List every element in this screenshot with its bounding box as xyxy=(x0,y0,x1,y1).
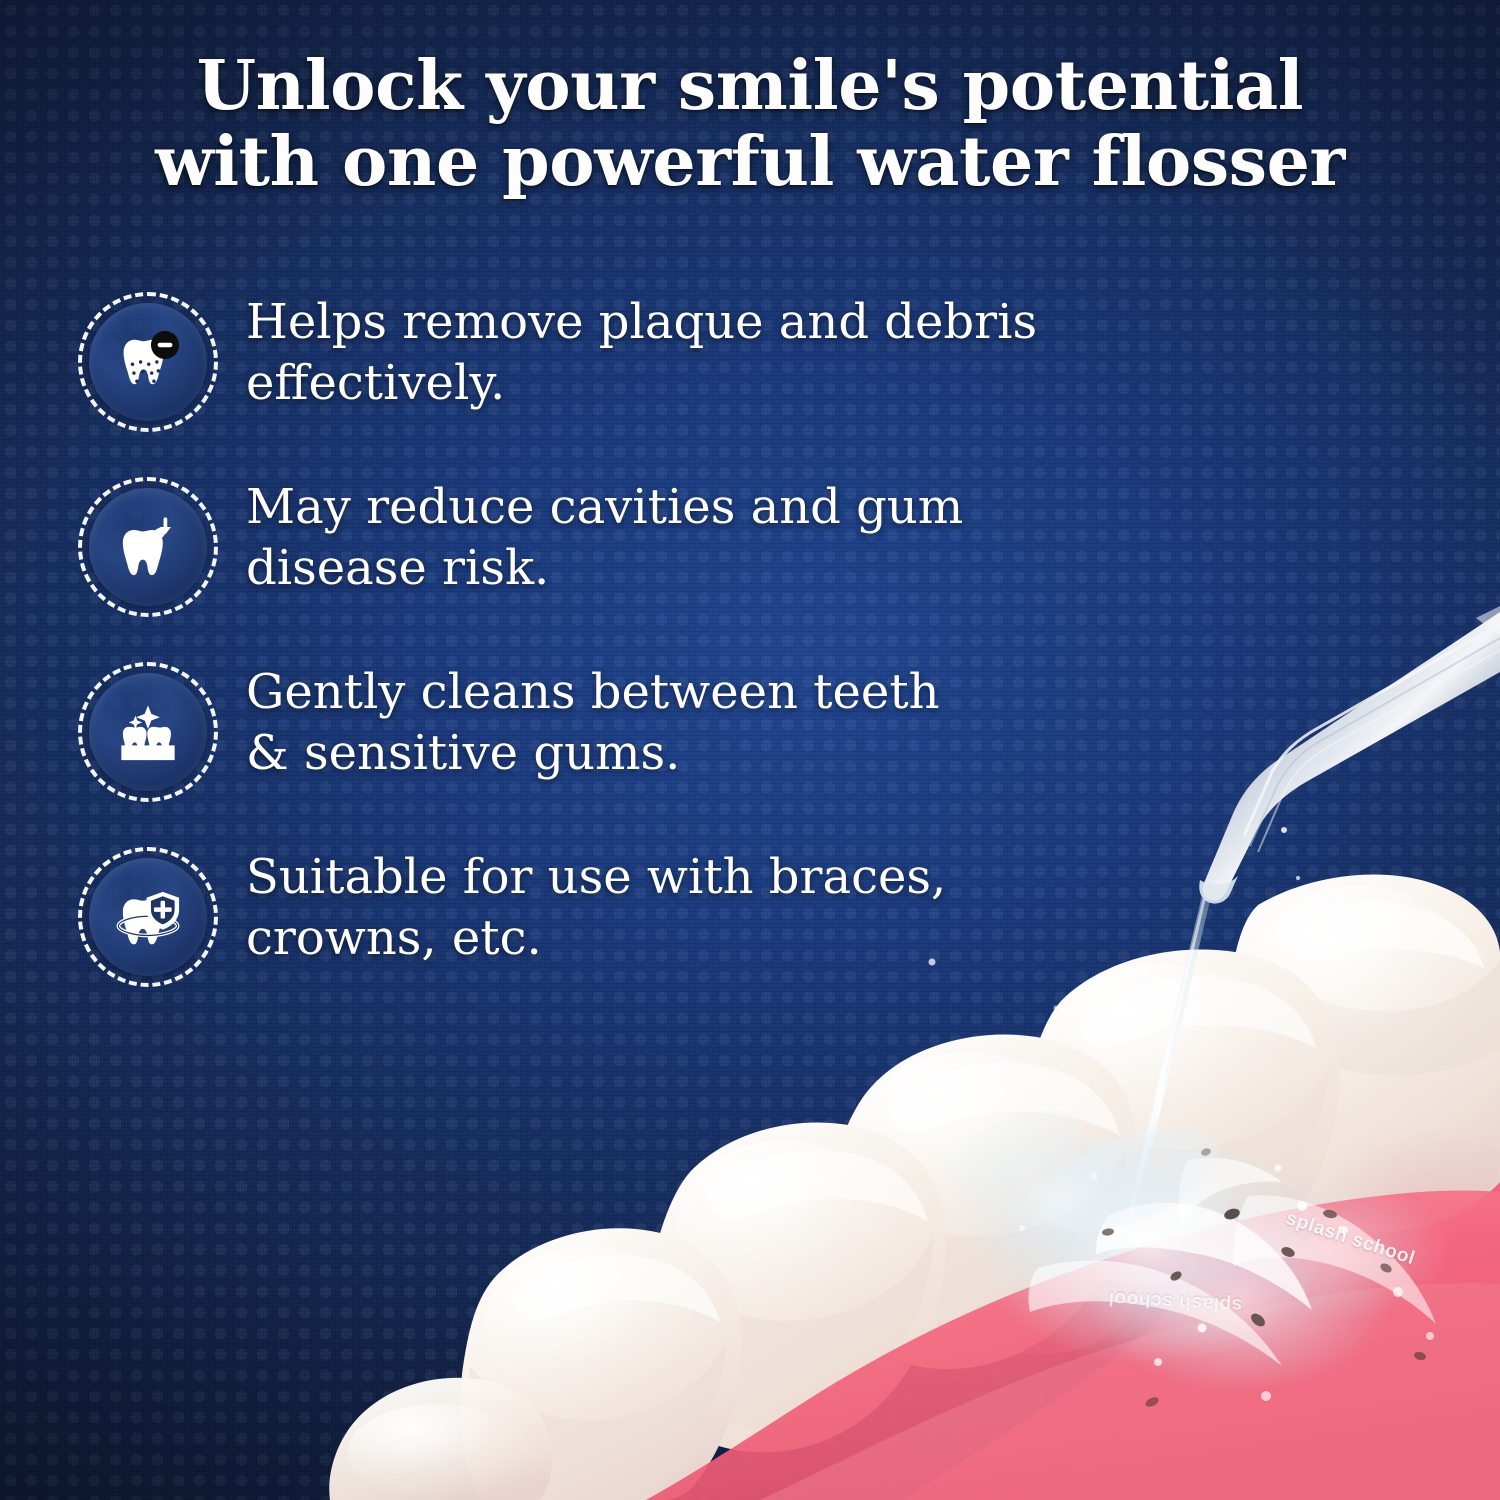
feature-text-line-2: effectively. xyxy=(246,353,1258,414)
product-feature-banner: splash school splash school Unlock your … xyxy=(0,0,1500,1500)
tooth-plaque-minus-icon xyxy=(111,325,185,399)
teeth-gums-sparkle-icon xyxy=(111,695,185,769)
feature-item: Gently cleans between teeth & sensitive … xyxy=(78,658,1258,843)
badge-disc xyxy=(89,488,207,606)
headline: Unlock your smile's potential with one p… xyxy=(0,48,1500,200)
feature-item: Helps remove plaque and debris effective… xyxy=(78,288,1258,473)
feature-text-line-2: crowns, etc. xyxy=(246,908,1258,969)
badge-disc xyxy=(89,673,207,791)
feature-text-line-1: Gently cleans between teeth xyxy=(246,662,1258,723)
feature-text-line-1: Suitable for use with braces, xyxy=(246,847,1258,908)
feature-text-line-1: Helps remove plaque and debris xyxy=(246,292,1258,353)
feature-item: Suitable for use with braces, crowns, et… xyxy=(78,843,1258,1028)
feature-text-line-2: & sensitive gums. xyxy=(246,723,1258,784)
feature-text: Suitable for use with braces, crowns, et… xyxy=(246,843,1258,970)
tooth-leaf-arrow-down-icon xyxy=(111,510,185,584)
feature-badge xyxy=(78,847,218,987)
badge-disc xyxy=(89,858,207,976)
feature-text-line-1: May reduce cavities and gum xyxy=(246,477,1258,538)
tooth-orbit-shield-icon xyxy=(111,880,185,954)
feature-badge xyxy=(78,292,218,432)
feature-text: Helps remove plaque and debris effective… xyxy=(246,288,1258,415)
feature-text: May reduce cavities and gum disease risk… xyxy=(246,473,1258,600)
headline-line-1: Unlock your smile's potential xyxy=(70,48,1430,124)
feature-text: Gently cleans between teeth & sensitive … xyxy=(246,658,1258,785)
feature-list: Helps remove plaque and debris effective… xyxy=(78,288,1258,1028)
badge-disc xyxy=(89,303,207,421)
feature-item: May reduce cavities and gum disease risk… xyxy=(78,473,1258,658)
feature-badge xyxy=(78,662,218,802)
feature-badge xyxy=(78,477,218,617)
feature-text-line-2: disease risk. xyxy=(246,538,1258,599)
headline-line-2: with one powerful water flosser xyxy=(70,124,1430,200)
